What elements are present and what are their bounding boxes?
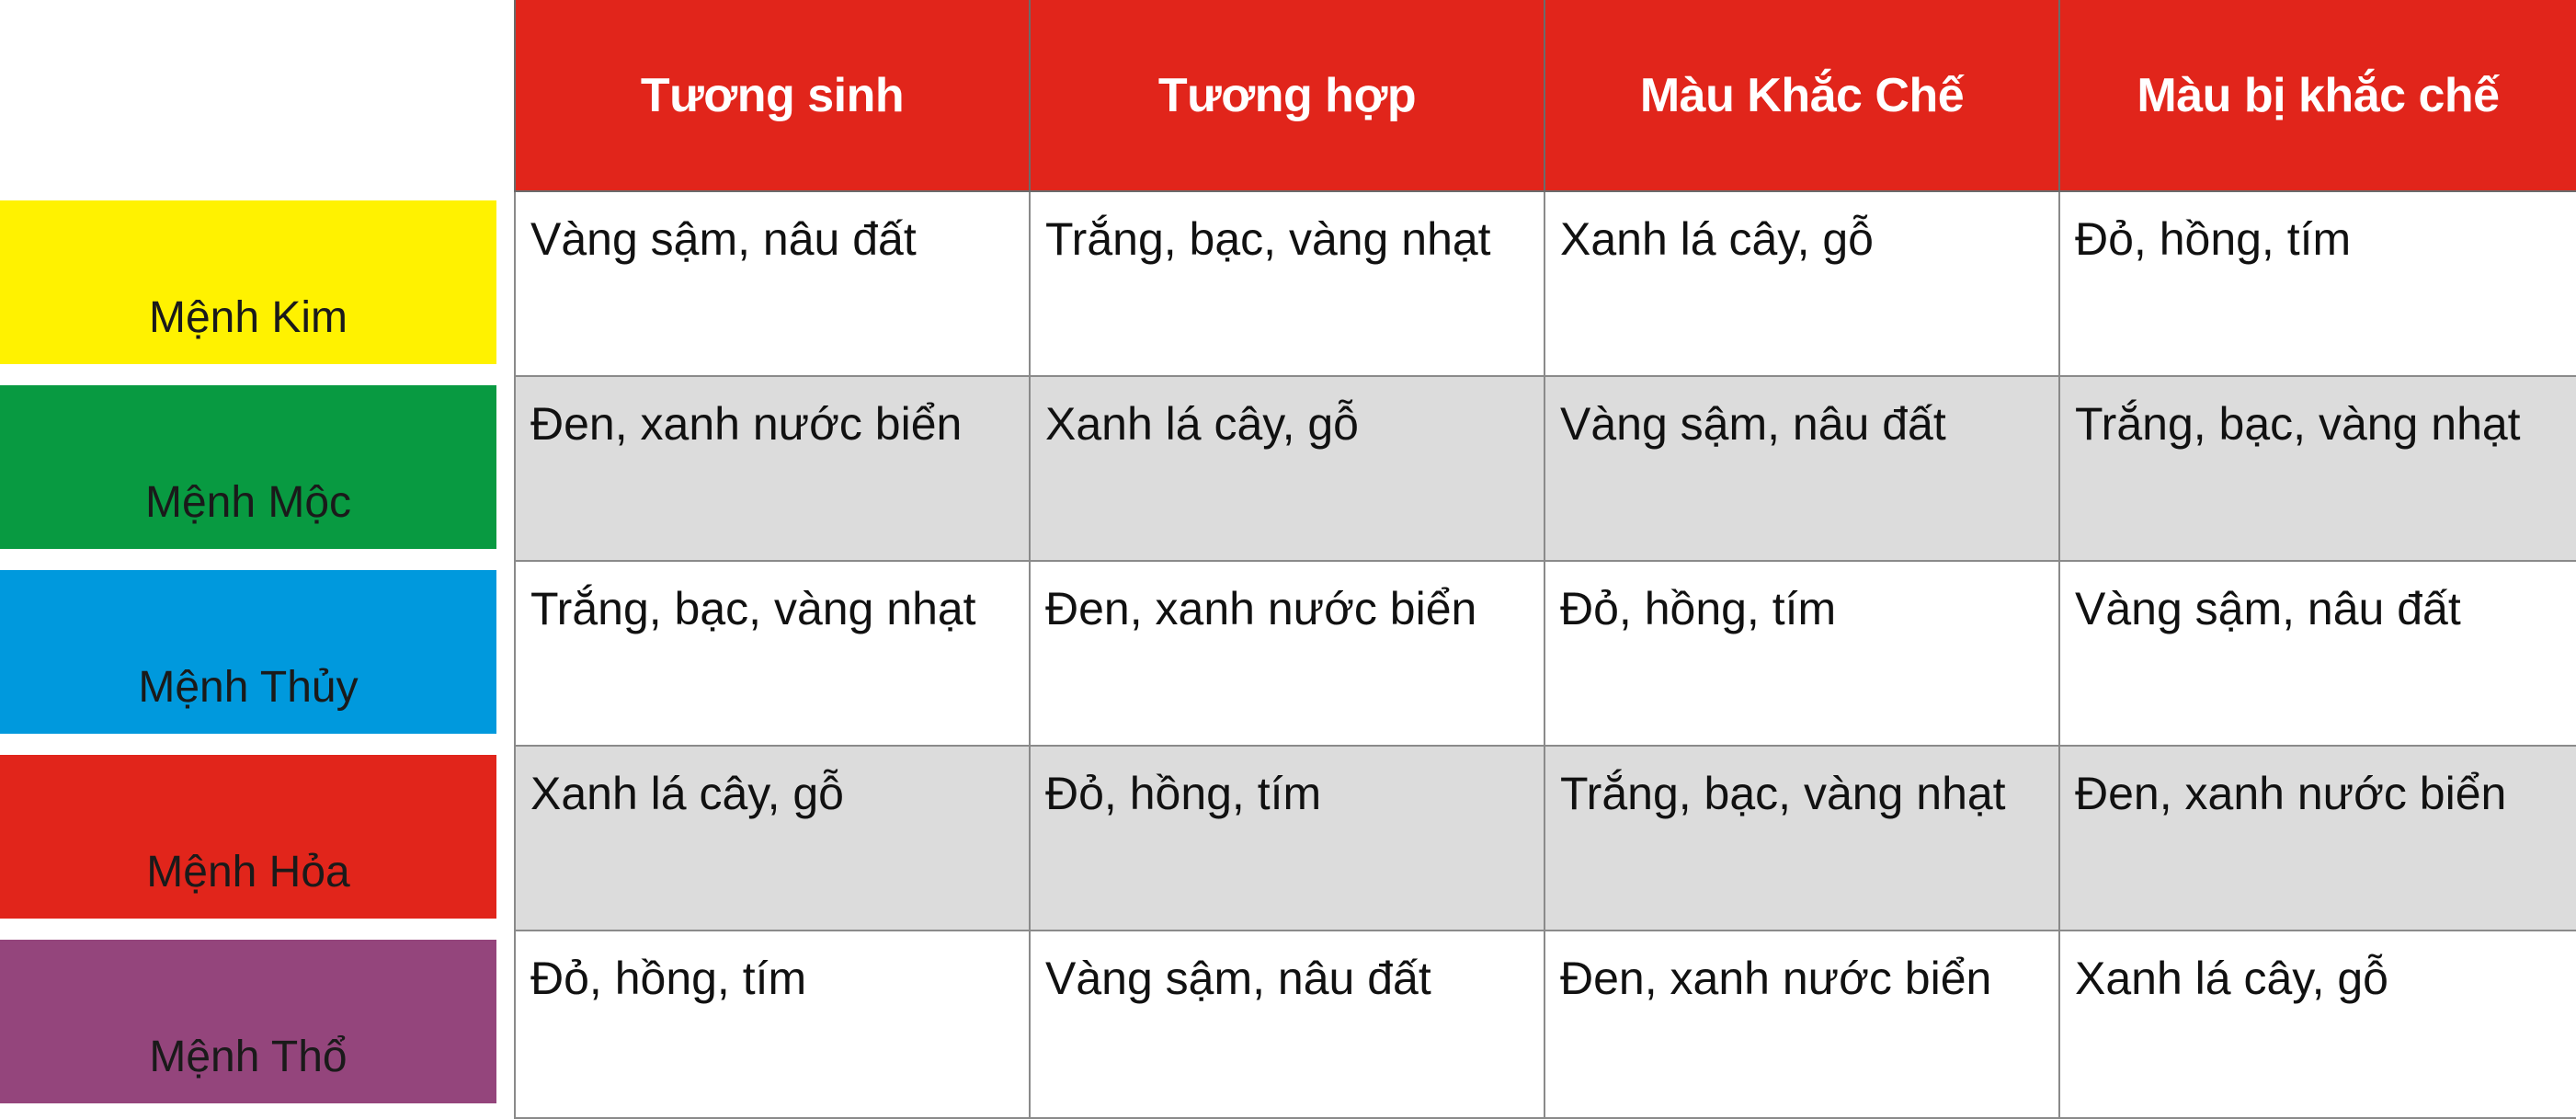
row-label-cell-menh-hoa: Mệnh Hỏa (0, 746, 515, 931)
cell-kim-mau-bi-khac-che: Đỏ, hồng, tím (2059, 191, 2576, 376)
cell-tho-tuong-sinh: Đỏ, hồng, tím (515, 931, 1030, 1118)
row-label-cell-menh-thuy: Mệnh Thủy (0, 561, 515, 746)
color-swatch-menh-thuy: Mệnh Thủy (0, 570, 496, 734)
row-label-cell-menh-kim: Mệnh Kim (0, 191, 515, 376)
color-swatch-menh-kim: Mệnh Kim (0, 200, 496, 364)
table-row-menh-hoa: Mệnh Hỏa Xanh lá cây, gỗ Đỏ, hồng, tím T… (0, 746, 2576, 931)
row-label-cell-menh-moc: Mệnh Mộc (0, 376, 515, 561)
cell-moc-mau-khac-che: Vàng sậm, nâu đất (1544, 376, 2059, 561)
table-row-menh-thuy: Mệnh Thủy Trắng, bạc, vàng nhạt Đen, xan… (0, 561, 2576, 746)
cell-hoa-tuong-hop: Đỏ, hồng, tím (1030, 746, 1544, 931)
cell-tho-mau-bi-khac-che: Xanh lá cây, gỗ (2059, 931, 2576, 1118)
cell-kim-mau-khac-che: Xanh lá cây, gỗ (1544, 191, 2059, 376)
color-swatch-menh-hoa: Mệnh Hỏa (0, 755, 496, 919)
column-header-tuong-hop: Tương hợp (1030, 0, 1544, 191)
cell-thuy-mau-khac-che: Đỏ, hồng, tím (1544, 561, 2059, 746)
cell-hoa-mau-bi-khac-che: Đen, xanh nước biển (2059, 746, 2576, 931)
table-header-row: Tương sinh Tương hợp Màu Khắc Chế Màu bị… (0, 0, 2576, 191)
cell-thuy-tuong-sinh: Trắng, bạc, vàng nhạt (515, 561, 1030, 746)
row-label-menh-kim: Mệnh Kim (149, 296, 348, 340)
table-row-menh-tho: Mệnh Thổ Đỏ, hồng, tím Vàng sậm, nâu đất… (0, 931, 2576, 1118)
column-header-tuong-sinh: Tương sinh (515, 0, 1030, 191)
cell-kim-tuong-hop: Trắng, bạc, vàng nhạt (1030, 191, 1544, 376)
cell-tho-tuong-hop: Vàng sậm, nâu đất (1030, 931, 1544, 1118)
row-label-menh-moc: Mệnh Mộc (145, 481, 351, 525)
table-row-menh-kim: Mệnh Kim Vàng sậm, nâu đất Trắng, bạc, v… (0, 191, 2576, 376)
table-row-menh-moc: Mệnh Mộc Đen, xanh nước biển Xanh lá cây… (0, 376, 2576, 561)
cell-moc-mau-bi-khac-che: Trắng, bạc, vàng nhạt (2059, 376, 2576, 561)
cell-hoa-mau-khac-che: Trắng, bạc, vàng nhạt (1544, 746, 2059, 931)
row-label-menh-tho: Mệnh Thổ (149, 1035, 347, 1079)
cell-hoa-tuong-sinh: Xanh lá cây, gỗ (515, 746, 1030, 931)
column-header-mau-bi-khac-che: Màu bị khắc chế (2059, 0, 2576, 191)
cell-thuy-tuong-hop: Đen, xanh nước biển (1030, 561, 1544, 746)
corner-cell (0, 0, 515, 191)
cell-kim-tuong-sinh: Vàng sậm, nâu đất (515, 191, 1030, 376)
five-elements-color-table: Tương sinh Tương hợp Màu Khắc Chế Màu bị… (0, 0, 2576, 1119)
cell-tho-mau-khac-che: Đen, xanh nước biển (1544, 931, 2059, 1118)
row-label-cell-menh-tho: Mệnh Thổ (0, 931, 515, 1118)
cell-thuy-mau-bi-khac-che: Vàng sậm, nâu đất (2059, 561, 2576, 746)
color-swatch-menh-moc: Mệnh Mộc (0, 385, 496, 549)
cell-moc-tuong-sinh: Đen, xanh nước biển (515, 376, 1030, 561)
cell-moc-tuong-hop: Xanh lá cây, gỗ (1030, 376, 1544, 561)
color-swatch-menh-tho: Mệnh Thổ (0, 940, 496, 1103)
row-label-menh-hoa: Mệnh Hỏa (146, 851, 349, 895)
row-label-menh-thuy: Mệnh Thủy (138, 666, 358, 710)
column-header-mau-khac-che: Màu Khắc Chế (1544, 0, 2059, 191)
